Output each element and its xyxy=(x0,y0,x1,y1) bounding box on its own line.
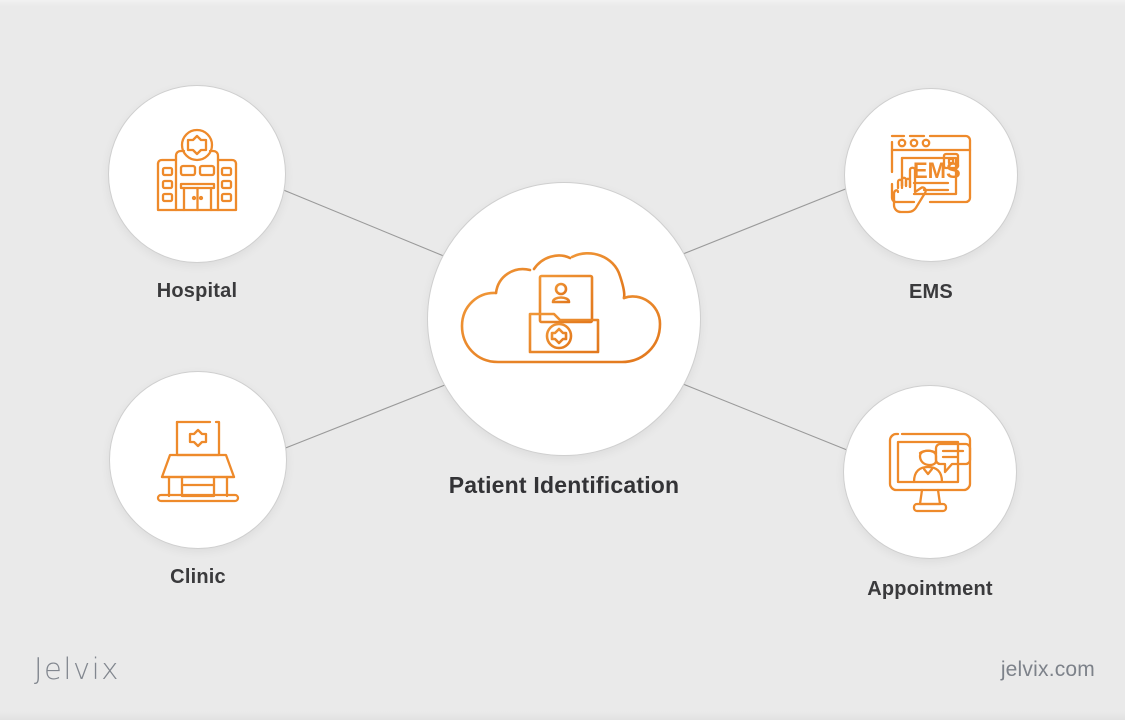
ems-disc[interactable]: EMS xyxy=(844,88,1018,262)
logo-text-part-1: Jelv xyxy=(34,652,92,686)
connector-center-ems xyxy=(678,186,853,256)
logo-text-part-2: x xyxy=(101,652,120,686)
monitor-telehealth-icon xyxy=(882,426,978,518)
clinic-disc[interactable] xyxy=(109,371,287,549)
logo-accent-letter: i xyxy=(92,652,102,686)
website-url[interactable]: jelvix.com xyxy=(1001,658,1095,682)
jelvix-logo[interactable]: Jelvix xyxy=(34,652,120,686)
center-node[interactable]: Patient Identification xyxy=(427,182,701,456)
hospital-label: Hospital xyxy=(108,280,286,303)
connector-clinic-center xyxy=(283,383,450,449)
node-hospital[interactable]: Hospital xyxy=(108,85,286,263)
appointment-label: Appointment xyxy=(843,578,1017,601)
node-ems[interactable]: EMS EMS xyxy=(844,88,1018,262)
connector-hospital-center xyxy=(281,189,451,259)
hospital-disc[interactable] xyxy=(108,85,286,263)
center-node-label: Patient Identification xyxy=(427,472,701,499)
node-appointment[interactable]: Appointment xyxy=(843,385,1017,559)
ems-browser-window-icon: EMS xyxy=(884,126,978,224)
ems-icon-text: EMS xyxy=(913,158,961,183)
hospital-building-icon xyxy=(148,128,246,220)
clinic-building-icon xyxy=(150,415,246,505)
clinic-label: Clinic xyxy=(109,566,287,589)
center-disc[interactable] xyxy=(427,182,701,456)
node-clinic[interactable]: Clinic xyxy=(109,371,287,549)
appointment-disc[interactable] xyxy=(843,385,1017,559)
ems-label: EMS xyxy=(844,281,1018,304)
cloud-patient-record-icon xyxy=(454,244,674,394)
connector-center-appointment xyxy=(678,382,852,452)
diagram-slide: Patient Identification xyxy=(0,0,1125,720)
